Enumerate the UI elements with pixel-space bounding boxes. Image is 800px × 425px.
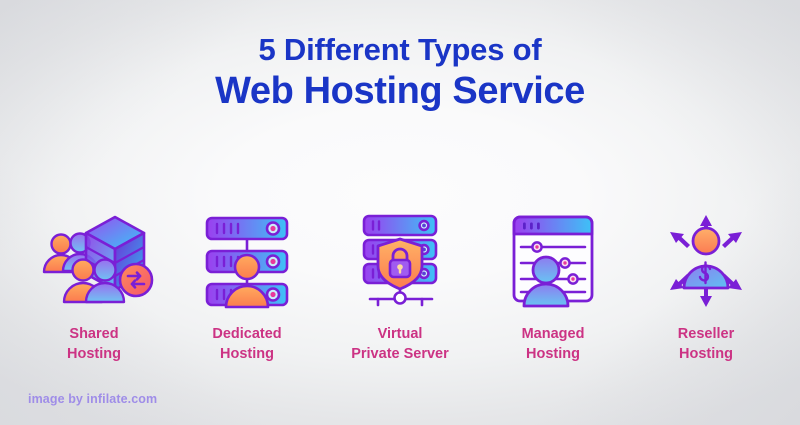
- hosting-card-dedicated[interactable]: Dedicated Hosting: [175, 212, 319, 364]
- hosting-type-list: Shared Hosting: [0, 212, 800, 364]
- hosting-card-label: Dedicated Hosting: [212, 324, 281, 364]
- hosting-card-shared[interactable]: Shared Hosting: [22, 212, 166, 364]
- hosting-card-label: Reseller Hosting: [678, 324, 734, 364]
- shared-hosting-icon: [31, 212, 157, 310]
- title-line-1: 5 Different Types of: [0, 34, 800, 67]
- virtual-private-server-icon: [348, 212, 452, 310]
- image-credit: image by infilate.com: [28, 392, 157, 406]
- dedicated-hosting-icon: [195, 212, 299, 310]
- hosting-card-vps[interactable]: Virtual Private Server: [328, 212, 472, 364]
- reseller-hosting-icon: [654, 212, 758, 310]
- hosting-card-label: Shared Hosting: [67, 324, 121, 364]
- managed-hosting-icon: [501, 212, 605, 310]
- hosting-card-label: Virtual Private Server: [351, 324, 449, 364]
- page-title: 5 Different Types of Web Hosting Service: [0, 34, 800, 111]
- hosting-card-managed[interactable]: Managed Hosting: [481, 212, 625, 364]
- hosting-card-label: Managed Hosting: [522, 324, 585, 364]
- title-line-2: Web Hosting Service: [0, 72, 800, 112]
- hosting-card-reseller[interactable]: Reseller Hosting: [634, 212, 778, 364]
- infographic-poster: 5 Different Types of Web Hosting Service: [0, 0, 800, 425]
